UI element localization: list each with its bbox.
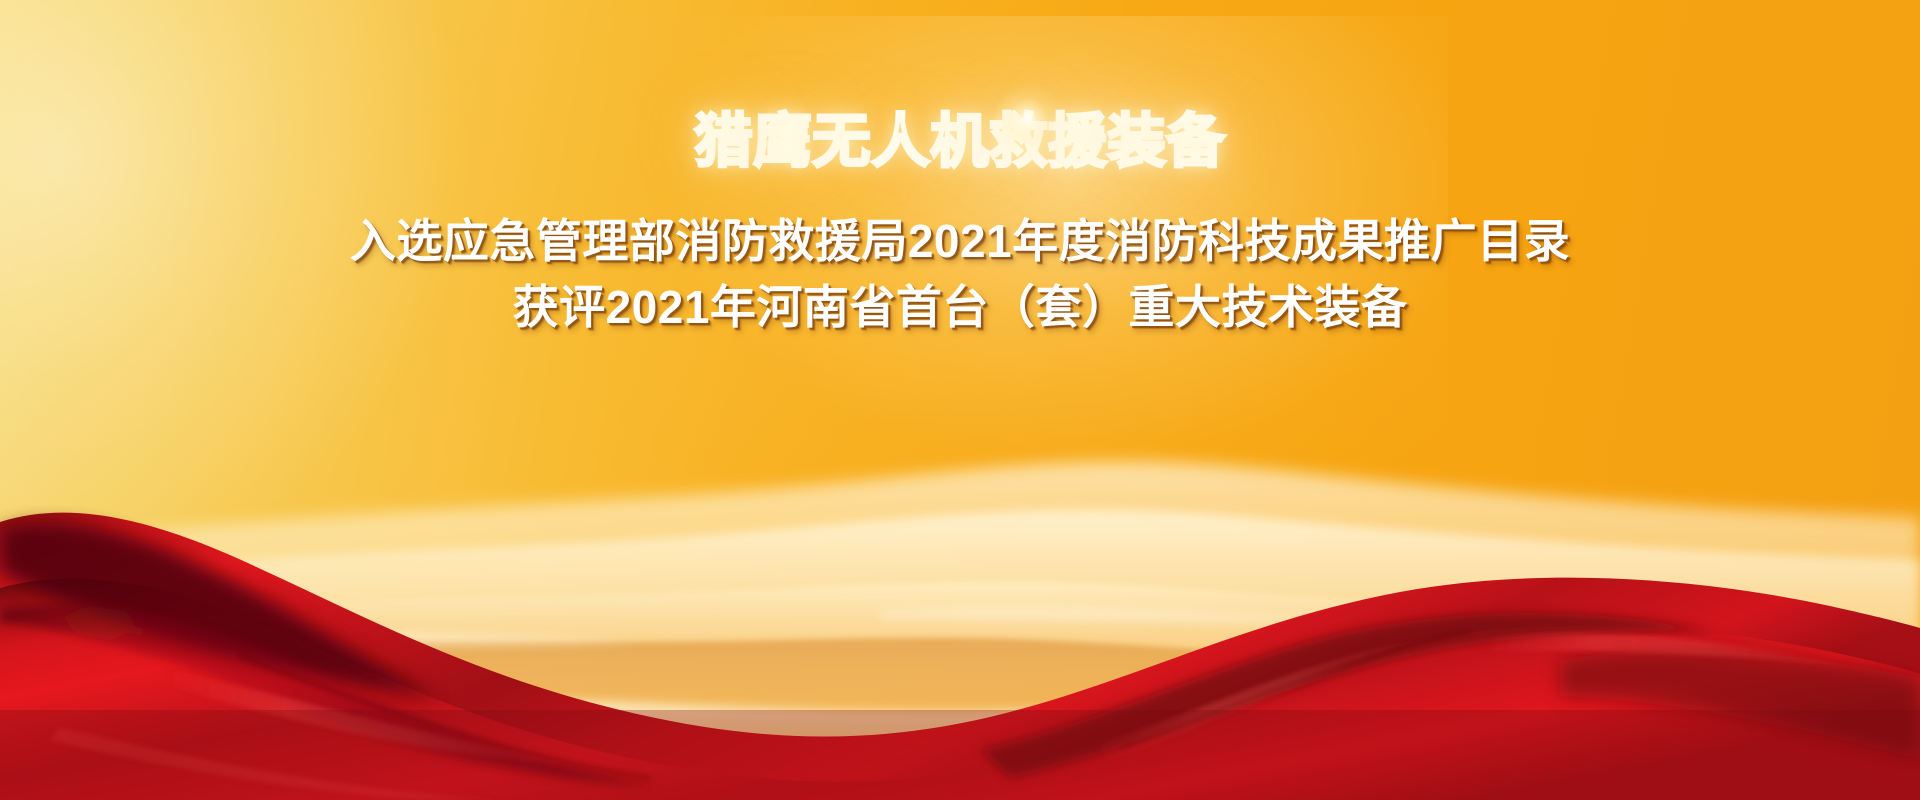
promo-banner: 猎鹰无人机救援装备 入选应急管理部消防救援局2021年度消防科技成果推广目录 获… [0, 0, 1920, 800]
subtitle-line-2: 获评2021年河南省首台（套）重大技术装备 [0, 272, 1920, 338]
subtitle-line-1: 入选应急管理部消防救援局2021年度消防科技成果推广目录 [0, 173, 1920, 272]
banner-text-block: 猎鹰无人机救援装备 入选应急管理部消防救援局2021年度消防科技成果推广目录 获… [0, 0, 1920, 338]
red-silk-ribbon [0, 460, 1920, 800]
page-title: 猎鹰无人机救援装备 [0, 0, 1920, 173]
